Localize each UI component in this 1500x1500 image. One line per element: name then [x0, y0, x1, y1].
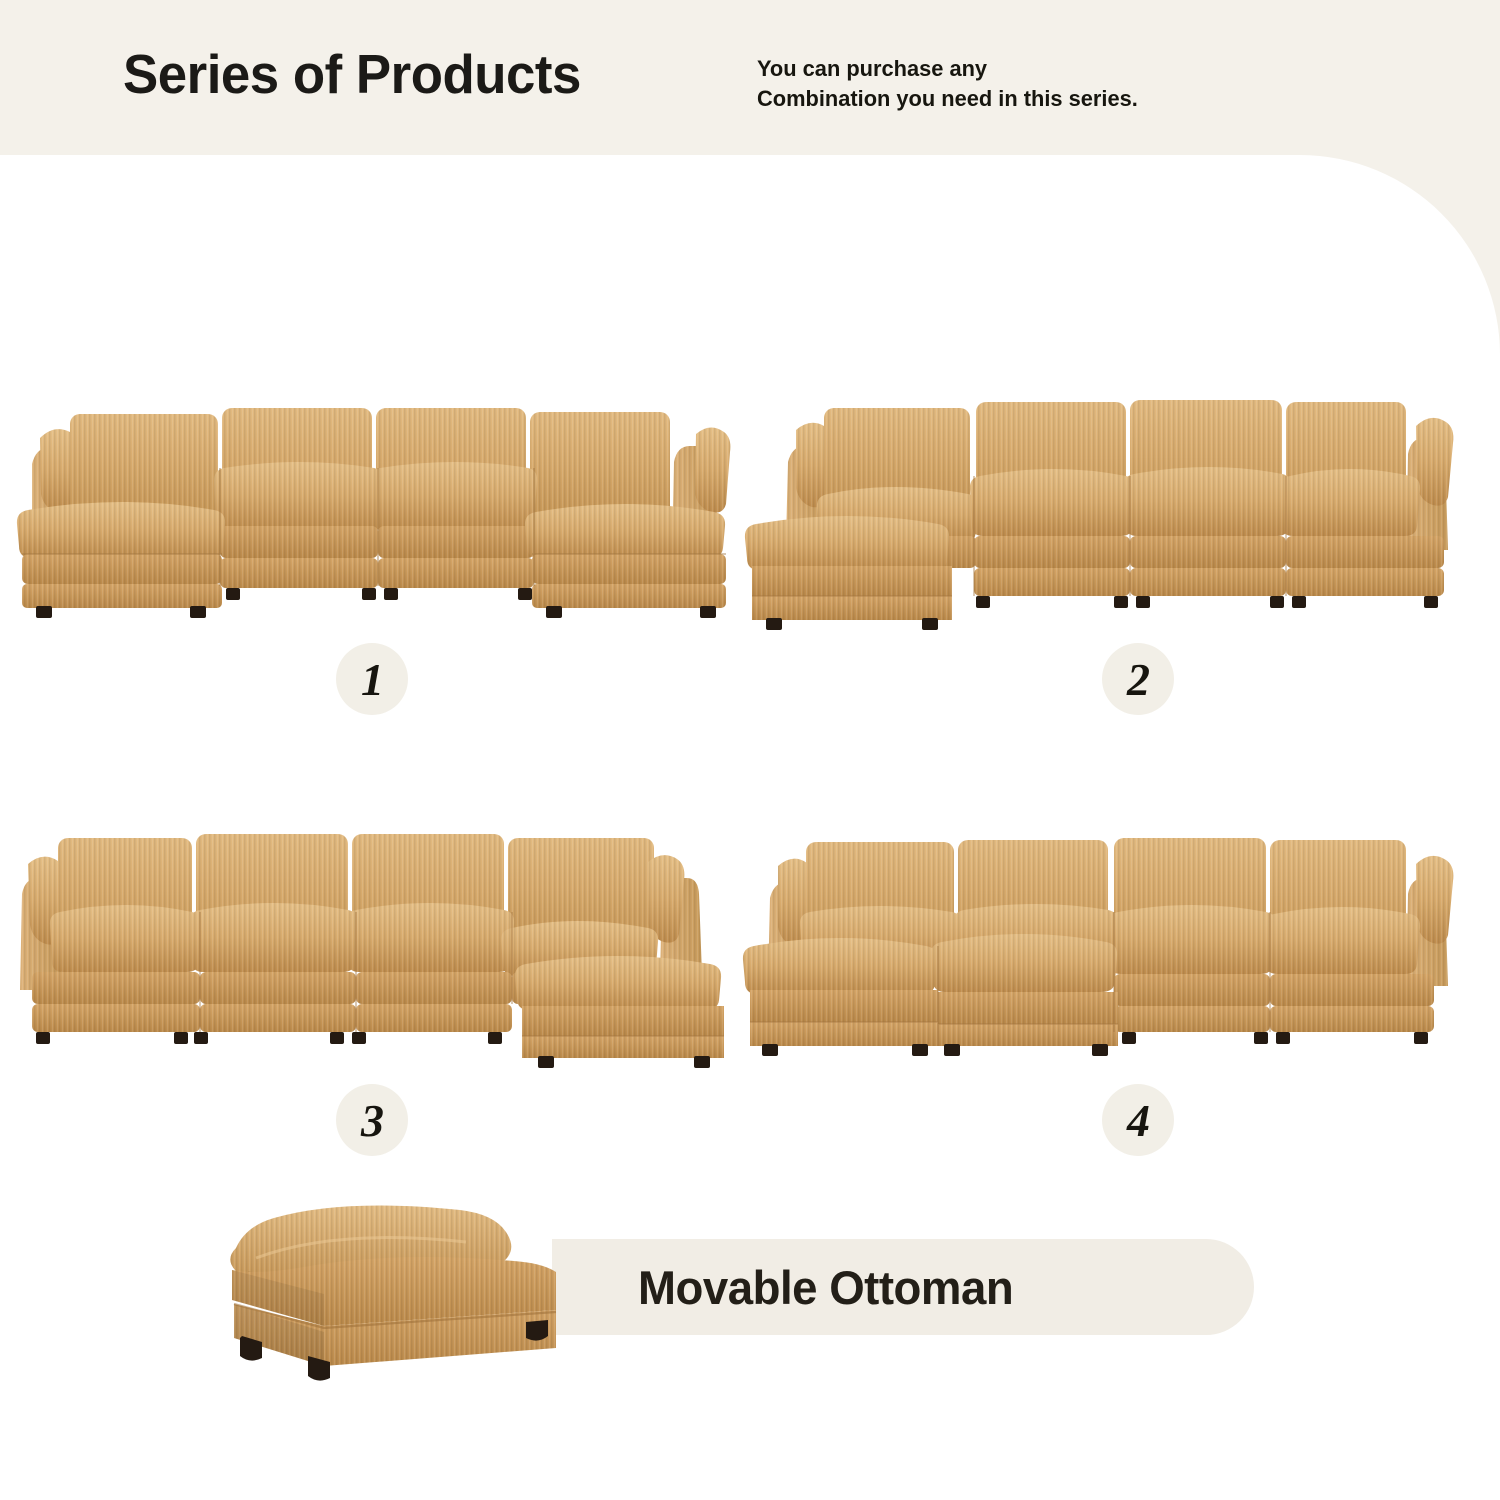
config-badge-1[interactable]: 1: [336, 643, 408, 715]
configuration-3[interactable]: [14, 822, 730, 1048]
subtitle-line-2: Combination you need in this series.: [757, 84, 1138, 114]
ottoman-illustration: [196, 1186, 596, 1386]
page-subtitle: You can purchase any Combination you nee…: [757, 54, 1138, 114]
configuration-4[interactable]: [748, 824, 1464, 1046]
config-badge-3[interactable]: 3: [336, 1084, 408, 1156]
configuration-1[interactable]: [14, 392, 730, 614]
sofa-illustration-2: [748, 386, 1464, 614]
sofa-illustration-3: [14, 822, 730, 1048]
movable-ottoman-callout: Movable Ottoman: [552, 1239, 1254, 1335]
movable-ottoman-label: Movable Ottoman: [638, 1260, 1013, 1315]
configuration-2[interactable]: [748, 386, 1464, 614]
config-badge-4[interactable]: 4: [1102, 1084, 1174, 1156]
page-title: Series of Products: [123, 42, 581, 106]
config-badge-2[interactable]: 2: [1102, 643, 1174, 715]
subtitle-line-1: You can purchase any: [757, 54, 1138, 84]
sofa-illustration-1: [14, 392, 730, 614]
sofa-illustration-4: [748, 824, 1464, 1046]
infographic-page: Series of Products You can purchase any …: [0, 0, 1500, 1500]
